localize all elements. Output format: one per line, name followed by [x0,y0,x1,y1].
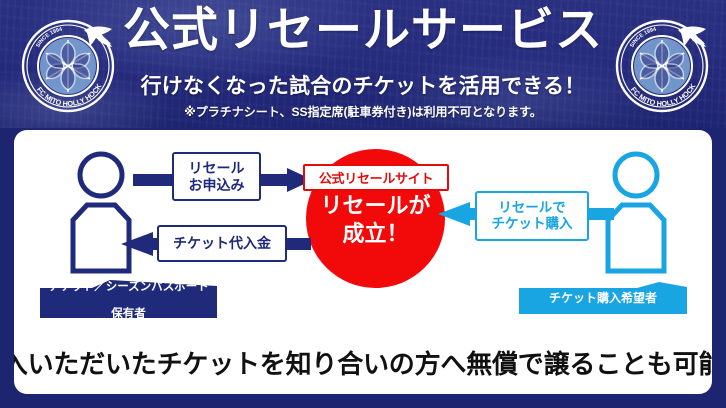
seller-banner: チケット／シーズンパスポート 保有者 [40,280,217,318]
flow-purchase-line1: リセールで [498,200,566,215]
flow-apply-box: リセール お申込み [172,152,261,201]
page-title: 公式リセールサービス [0,6,726,53]
hub-result-text: リセールが 成立！ [306,192,445,248]
seller-banner-line1: チケット／シーズンパスポート [48,279,208,294]
resale-flow-diagram: チケット／シーズンパスポート 保有者 リセール お申込み [14,130,712,332]
footer-message: ご購入いただいたチケットを知り合いの方へ無償で譲ることも可能！！ [14,335,712,390]
buyer-banner: チケット購入希望者 [519,282,687,314]
flow-apply-line2: お申込み [189,177,245,193]
flow-purchase-line2: チケット購入 [492,216,573,231]
flow-payment-box: チケット代入金 [157,225,287,262]
seller-person-icon [58,150,144,276]
hub-result-line2: 成立！ [342,221,408,246]
page-header: FC MITO HOLLY HOCK SINCE 1994 [0,0,726,128]
content-panel: チケット／シーズンパスポート 保有者 リセール お申込み [14,130,712,394]
hub-label: 公式リセールサイト [303,164,449,191]
header-note: ※プラチナシート、SS指定席(駐車券付き)は利用不可となります。 [0,106,726,118]
hub-result-line1: リセールが [320,193,430,218]
flow-payment-line1: チケット代入金 [173,235,271,252]
header-subtitle: 行けなくなった試合のチケットを活用できる！ [0,76,726,97]
flow-apply-line1: リセール [189,160,245,176]
page-root: FC MITO HOLLY HOCK SINCE 1994 [0,0,726,408]
buyer-banner-line1: チケット購入希望者 [549,290,657,305]
seller-banner-text: チケット／シーズンパスポート 保有者 [48,277,208,322]
flow-purchase-box: リセールで チケット購入 [475,191,589,241]
seller-banner-line2: 保有者 [48,306,208,321]
